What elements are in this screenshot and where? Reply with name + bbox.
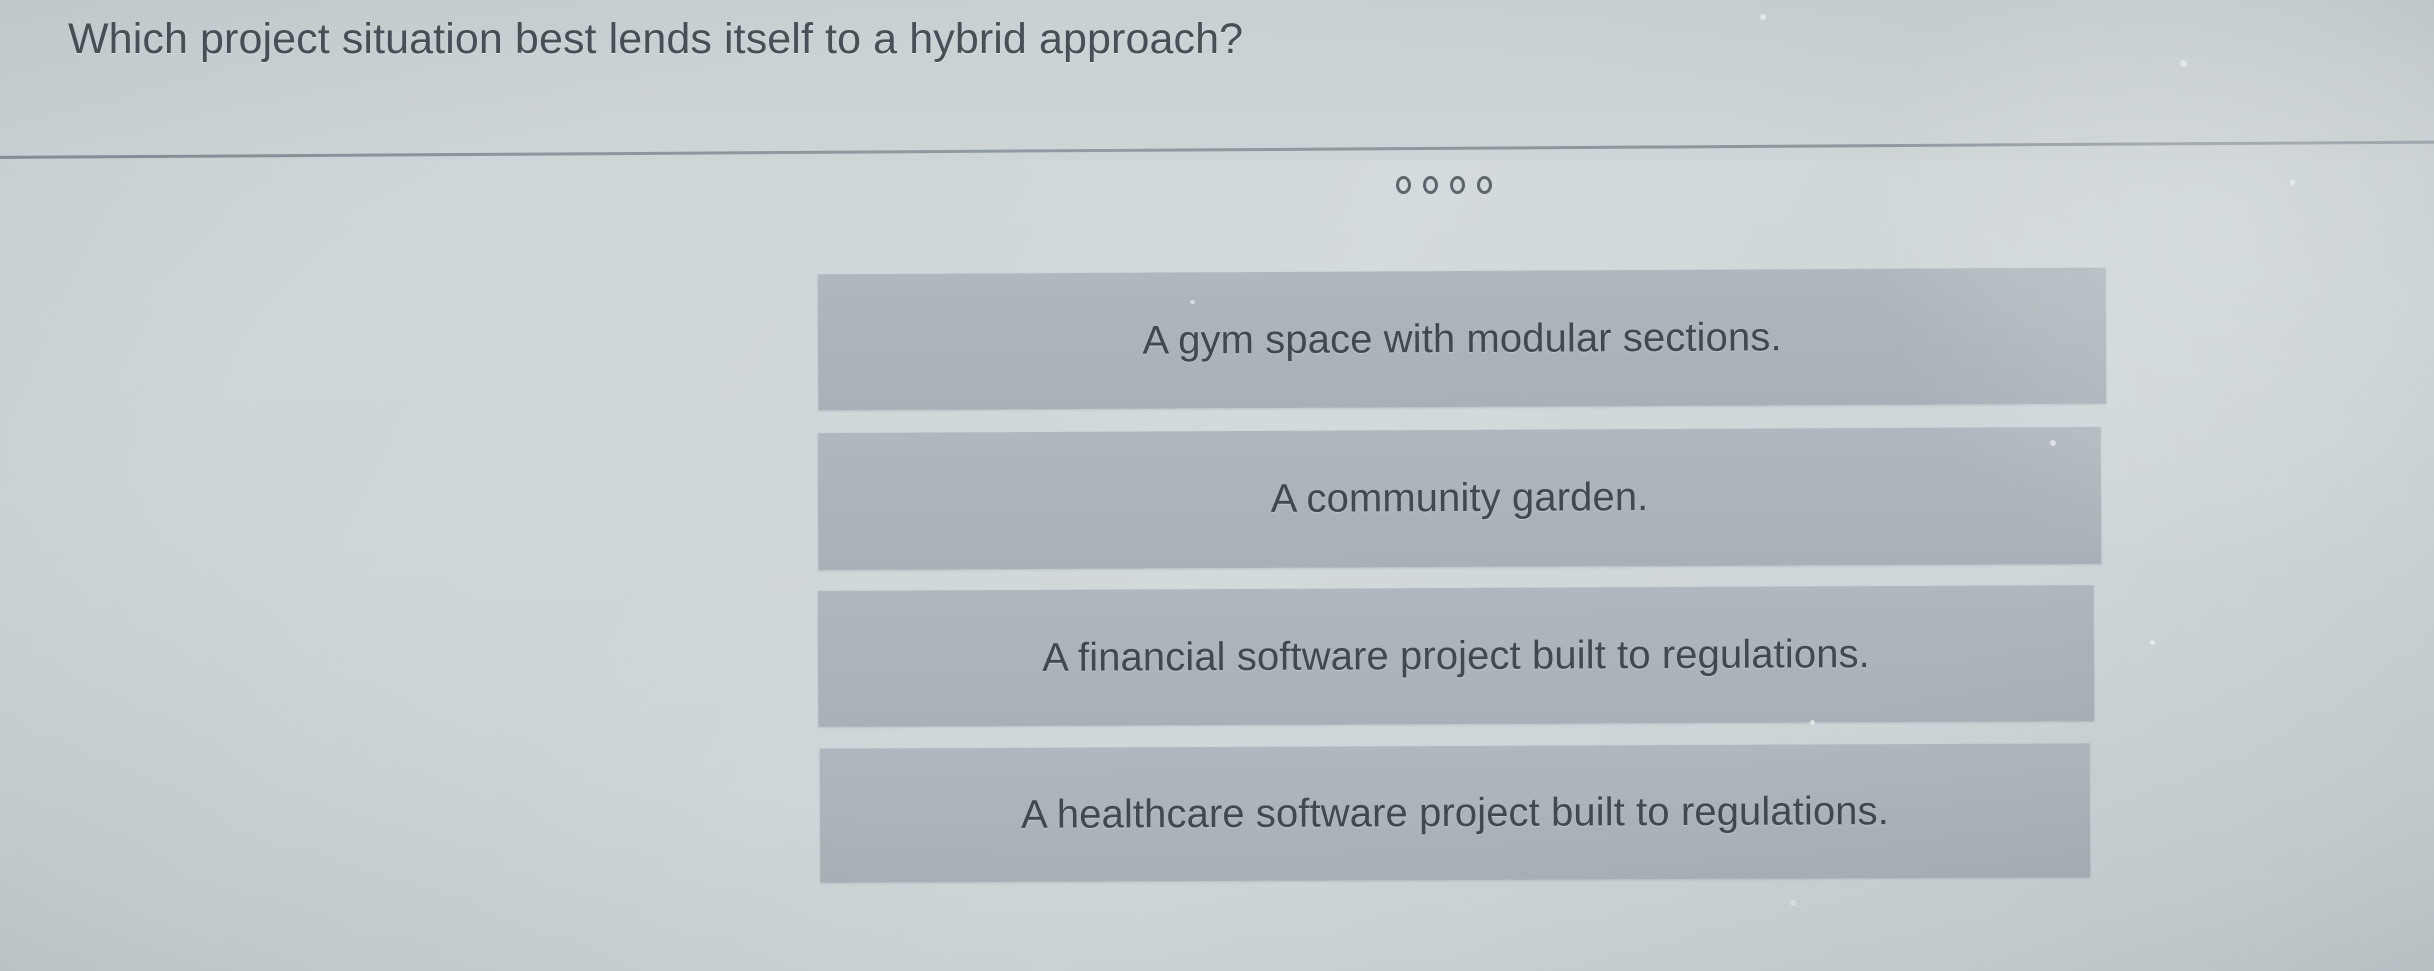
- answer-option-4[interactable]: A healthcare software project built to r…: [820, 743, 2091, 882]
- answer-option-1[interactable]: A gym space with modular sections.: [818, 268, 2107, 411]
- answer-option-2[interactable]: A community garden.: [818, 427, 2102, 570]
- answer-option-3[interactable]: A financial software project built to re…: [818, 585, 2095, 727]
- answer-option-label: A financial software project built to re…: [1042, 632, 1870, 681]
- answer-option-label: A healthcare software project built to r…: [1021, 789, 1889, 838]
- answer-options-list: A gym space with modular sections. A com…: [0, 0, 2434, 971]
- quiz-screen: Which project situation best lends itsel…: [0, 0, 2434, 971]
- answer-option-label: A gym space with modular sections.: [1142, 315, 1781, 363]
- answer-option-label: A community garden.: [1271, 475, 1649, 522]
